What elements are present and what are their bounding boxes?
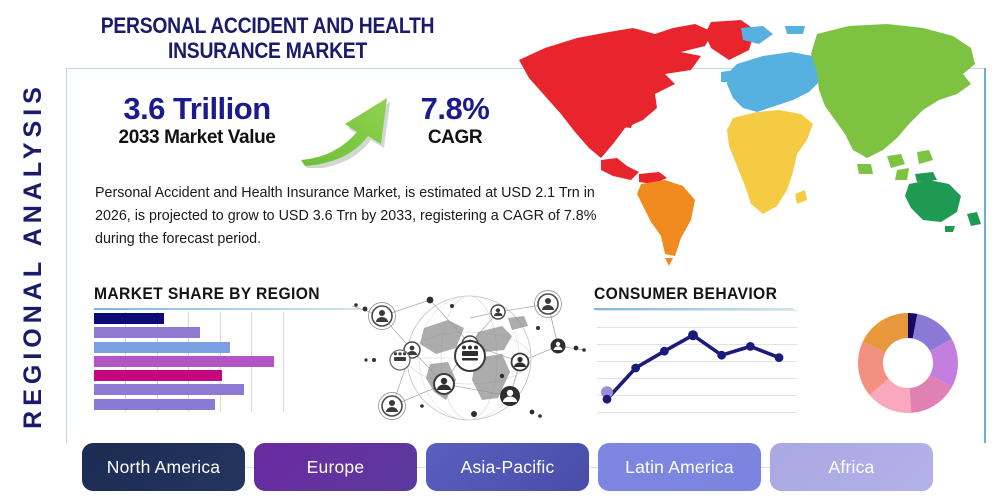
consumer-behavior-section: CONSUMER BEHAVIOR — [594, 284, 794, 310]
region-button-latin-america[interactable]: Latin America — [598, 443, 761, 491]
region-button-label: Europe — [307, 457, 365, 478]
growth-arrow-icon — [295, 88, 405, 168]
world-map-icon — [505, 8, 993, 270]
kpi-market-value-number: 3.6 Trillion — [92, 92, 302, 127]
kpi-row: 3.6 Trillion 2033 Market Value 7.8% CAGR — [80, 92, 500, 170]
kpi-market-value: 3.6 Trillion 2033 Market Value — [92, 92, 302, 149]
region-button-label: Asia-Pacific — [461, 457, 555, 478]
market-share-section: MARKET SHARE BY REGION — [94, 284, 359, 310]
region-button-north-america[interactable]: North America — [82, 443, 245, 491]
kpi-cagr-number: 7.8% — [400, 92, 510, 127]
rail-label: REGIONAL ANALYSIS — [19, 82, 48, 429]
bar-chart-bar — [94, 313, 164, 324]
line-chart-series — [597, 310, 797, 416]
kpi-cagr-label: CAGR — [400, 127, 510, 149]
global-network-icon — [352, 288, 587, 428]
page-title: PERSONAL ACCIDENT AND HEALTH INSURANCE M… — [67, 14, 467, 63]
region-buttons-bar: North AmericaEuropeAsia-PacificLatin Ame… — [82, 443, 992, 491]
region-button-europe[interactable]: Europe — [254, 443, 417, 491]
region-button-label: Latin America — [625, 457, 734, 478]
bar-chart-bar — [94, 370, 222, 381]
regional-analysis-rail: REGIONAL ANALYSIS — [10, 55, 56, 455]
bar-chart-bar — [94, 342, 230, 353]
consumer-behavior-heading: CONSUMER BEHAVIOR — [594, 284, 778, 304]
market-share-bar-chart — [94, 312, 314, 412]
pill-connector — [245, 467, 254, 468]
pill-connector — [761, 467, 770, 468]
region-button-africa[interactable]: Africa — [770, 443, 933, 491]
kpi-cagr: 7.8% CAGR — [400, 92, 510, 149]
pill-connector — [589, 467, 598, 468]
kpi-market-value-label: 2033 Market Value — [92, 127, 302, 149]
market-share-divider — [94, 308, 359, 310]
consumer-behavior-donut-chart — [853, 308, 963, 418]
infographic-root: REGIONAL ANALYSIS PERSONAL ACCIDENT AND … — [0, 0, 1000, 500]
bar-chart-bar — [94, 384, 244, 395]
bar-chart-bar — [94, 327, 200, 338]
region-button-label: North America — [107, 457, 220, 478]
region-button-label: Africa — [829, 457, 875, 478]
consumer-behavior-line-chart — [597, 310, 797, 416]
bar-chart-bar — [94, 399, 215, 410]
bar-chart-bar — [94, 356, 274, 367]
market-share-heading: MARKET SHARE BY REGION — [94, 284, 338, 304]
pill-connector — [417, 467, 426, 468]
region-button-asia-pacific[interactable]: Asia-Pacific — [426, 443, 589, 491]
